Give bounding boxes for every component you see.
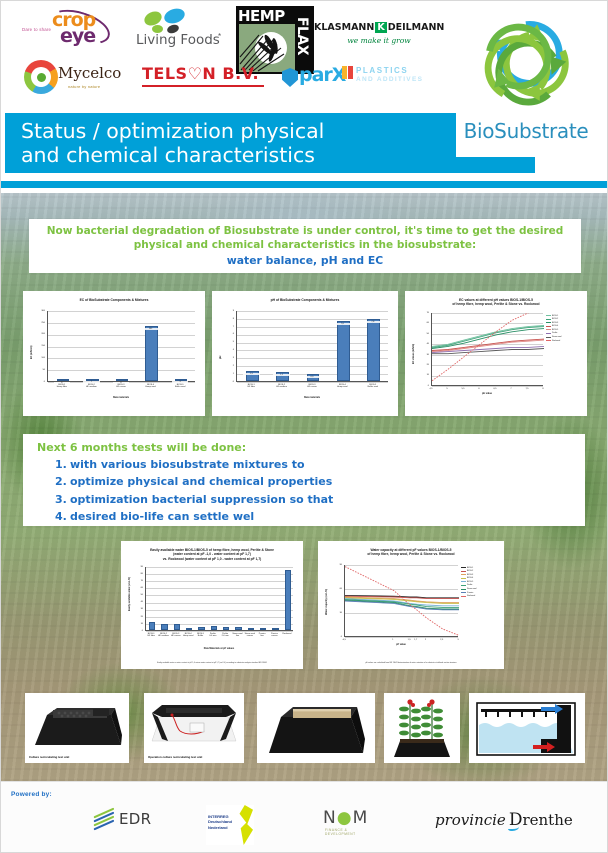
chart-gridline [146, 588, 293, 589]
chart-bar [285, 570, 291, 630]
chart-x-axis-title: Raw Materials at pF values [145, 647, 293, 650]
next-steps-item-number: 1. [55, 456, 70, 473]
photo-test-unit-with-substrate-slab [257, 693, 375, 763]
chart-legend-swatch [461, 592, 466, 593]
chart-x-tick: -0,5 [337, 639, 351, 641]
chart-bar-label: BIOS-2 HF medium [76, 384, 108, 389]
chart-gridline [237, 358, 388, 359]
chart-bar [186, 628, 192, 630]
chart-ec-bar: EC of BioSubstrate Components & Mixtures… [23, 291, 205, 416]
chart-legend-item: Perlite [546, 332, 582, 335]
logo-parx-plastics: parX PLASTICS AND ADDITIVES [281, 63, 431, 97]
next-steps-card: Next 6 months tests will be done: 1.with… [23, 434, 585, 526]
chart-y-tick: 6 [221, 333, 234, 335]
chart-legend-label: BIOS-4 [552, 325, 558, 327]
chart-y-tick: 100 [32, 357, 45, 359]
poster-page: crop eye Dare to share Living Foods * HE [0, 0, 608, 853]
chart-bar [149, 622, 155, 630]
chart-y-tick: 70 [130, 580, 143, 582]
next-steps-item-label: optimize physical and chemical propertie… [70, 475, 332, 488]
chart-gridline [146, 624, 293, 625]
chart-gridline [48, 335, 195, 336]
powered-by-label: Powered by: [11, 791, 52, 798]
chart-bar [145, 326, 157, 381]
chart-bar-value: 232 [142, 328, 158, 330]
chart-bar-value: 7,8 [364, 321, 381, 323]
photo-tomato-plants-in-test-unit [384, 693, 460, 763]
chart-x-tick: 1 [386, 639, 400, 641]
chart-legend-label: Pumice [467, 592, 473, 594]
chart-legend-swatch [546, 315, 551, 316]
chart-title: Easily available water BIOS-1/BIOS-5 of … [125, 548, 299, 561]
chart-ec-vs-ph-lines: EC values at different pH values BIOS-1/… [405, 291, 587, 416]
next-steps-item-number: 2. [55, 473, 70, 490]
chart-y-tick: 30 [328, 612, 342, 614]
chart-water-capacity-lines: Water capacity at different pF values BI… [318, 541, 504, 669]
chart-legend-label: BIOS-1 [552, 315, 558, 317]
chart-legend-swatch [461, 596, 466, 597]
chart-bar [198, 627, 204, 630]
provincie-text: provincie [435, 811, 506, 829]
chart-gridline [237, 382, 388, 383]
chart-gridline [237, 327, 388, 328]
chart-title: EC of BioSubstrate Components & Mixtures [27, 298, 201, 302]
chart-gridline [48, 358, 195, 359]
mycelco-center-dot-icon [37, 73, 46, 82]
chart-y-tick: 0 [415, 385, 429, 387]
chart-gridline [146, 567, 293, 568]
chart-legend-item: BIOS-4 [461, 577, 499, 580]
chart-y-tick: 20 [130, 616, 143, 618]
chart-y-tick: 0 [221, 381, 234, 383]
hempflax-text-flax: FLAX [294, 17, 310, 55]
chart-bar [337, 321, 350, 381]
chart-legend-item: BIOS-2 [546, 318, 582, 321]
chart-legend-label: Stone wool [467, 588, 476, 590]
chart-gridline [237, 350, 388, 351]
chart-y-axis-title: Water capacity (vol.-%) [325, 589, 328, 615]
chart-y-tick: 250 [32, 322, 45, 324]
chart-bar-label: BIOS-1 HF fibre [235, 384, 267, 389]
chart-x-tick: 5 [440, 388, 454, 390]
chart-y-tick: 90 [328, 564, 342, 566]
chart-bar-label: BIOS-3 HF coarse [105, 384, 137, 389]
chart-legend-item: BIOS-2 [461, 570, 499, 573]
chart-y-tick: 10 [130, 623, 143, 625]
mycelco-tagline: nature by nature [68, 84, 100, 89]
page-title: Status / optimization physical and chemi… [21, 119, 324, 167]
chart-plot-area [47, 311, 195, 382]
chart-y-axis-title: pH [219, 355, 222, 358]
chart-y-tick: 0 [328, 636, 342, 638]
interreg-nederland: Nederland [208, 825, 232, 830]
chart-legend-label: BIOS-5 [467, 581, 473, 583]
footer-logo-interreg: INTERREG Deutschland Nederland [206, 804, 256, 846]
chart-legend: BIOS-1BIOS-2BIOS-3BIOS-4BIOS-5PerliteSto… [461, 566, 499, 598]
chart-legend-item: BIOS-5 [461, 580, 499, 583]
chart-x-axis-title: Raw materials [47, 396, 195, 399]
chart-y-tick: 0 [32, 381, 45, 383]
chart-title: EC values at different pH values BIOS-1/… [409, 298, 583, 307]
logo-klasmann-deilmann: KLASMANNKDEILMANN we make it grow [313, 17, 445, 59]
parx-plastics-text: PLASTICS [356, 66, 408, 75]
chart-bar-label: BIOS-4 Hemp wool [326, 384, 358, 389]
chart-gridline [146, 574, 293, 575]
chart-legend-item: BIOS-1 [461, 566, 499, 569]
chart-y-tick: 30 [415, 354, 429, 356]
chart-bar-label: BIOS-3 HF coarse [296, 384, 328, 389]
chart-legend-item: BIOS-3 [546, 321, 582, 324]
intro-statement-card: Now bacterial degradation of Biosubstrat… [29, 219, 581, 273]
crop-eye-text-bottom: eye [60, 25, 95, 47]
chart-y-tick: 300 [32, 310, 45, 312]
chart-x-tick: 7,5 [520, 388, 534, 390]
chart-legend-swatch [546, 340, 551, 341]
logo-living-foods: Living Foods * [131, 7, 243, 55]
chart-legend-label: Stone wool [552, 336, 561, 338]
chart-legend-swatch [546, 337, 551, 338]
chart-legend-swatch [461, 585, 466, 586]
photo-caption: Culture recirculating test unit [29, 755, 125, 759]
next-steps-item-label: optimization bacterial suppression so th… [70, 493, 333, 506]
parx-text: parX [299, 64, 345, 86]
chart-gridline [237, 319, 388, 320]
chart-legend-swatch [546, 326, 551, 327]
chart-legend-swatch [461, 571, 466, 572]
chart-bar [248, 628, 254, 630]
chart-legend-label: Perlite [467, 584, 472, 586]
chart-y-tick: 50 [415, 333, 429, 335]
photo-water-reservoir-cross-section-diagram [469, 693, 585, 763]
parx-additives-text: AND ADDITIVES [356, 76, 423, 83]
chart-bar-label: BIOS-5 Buffer wool [164, 384, 196, 389]
chart-y-axis-title: Easily available water (vol.-%) [128, 577, 131, 611]
chart-bar-label: BIOS-1 Hemp fibre [46, 384, 78, 389]
nom-text: NOM [323, 808, 363, 828]
interreg-deutschland: Deutschland [208, 819, 232, 824]
chart-ph-bar: pH of BioSubstrate Components & Mixtures… [212, 291, 398, 416]
chart-bar [260, 628, 266, 630]
chart-y-tick: 60 [328, 588, 342, 590]
chart-gridline [48, 323, 195, 324]
chart-y-tick: 30 [130, 608, 143, 610]
next-steps-item: 4.desired bio-life can settle wel [55, 508, 575, 525]
footer-logo-nom: N●M NOM FINANCE & DEVELOPMENT [323, 808, 368, 828]
interreg-flag-icon [238, 805, 253, 845]
drenthe-rest: renthe [522, 811, 572, 829]
next-steps-item-label: desired bio-life can settle wel [70, 510, 254, 523]
hempflax-text-hemp: HEMP [238, 7, 285, 25]
crop-eye-tagline: Dare to share [22, 27, 51, 32]
chart-x-axis-title: Raw materials [236, 396, 388, 399]
chart-bar-value: 0,9 [304, 376, 321, 378]
chart-x-tick: 8 [536, 388, 550, 390]
logo-crop-eye: crop eye Dare to share [21, 7, 131, 53]
chart-x-tick: 6 [472, 388, 486, 390]
chart-y-tick: 5 [221, 341, 234, 343]
chart-legend-label: BIOS-2 [552, 318, 558, 320]
living-foods-blob-icon [162, 6, 186, 26]
chart-gridline [432, 386, 543, 387]
biosubstrate-brand-panel: BioSubstrate [456, 5, 596, 157]
intro-green-text: Now bacterial degradation of Biosubstrat… [47, 225, 564, 252]
footer-logo-edr: EDR [93, 810, 151, 828]
chart-legend-swatch [461, 581, 466, 582]
chart-y-tick: 9 [221, 310, 234, 312]
chart-gridline [237, 335, 388, 336]
chart-legend-swatch [546, 333, 551, 334]
chart-bar [235, 627, 241, 630]
chart-x-axis-title: pH value [431, 392, 543, 395]
chart-x-tick: 3 [451, 639, 465, 641]
chart-gridline [48, 311, 195, 312]
next-steps-list: 1.with various biosubstrate mixtures to2… [55, 456, 575, 526]
footer-logo-provincie-drenthe: provincie D renthe [435, 810, 573, 830]
next-steps-heading: Next 6 months tests will be done: [37, 441, 575, 454]
next-steps-item: 2.optimize physical and chemical propert… [55, 473, 575, 490]
chart-legend-label: Perlite [552, 332, 557, 334]
chart-legend-item: Pumice [461, 591, 499, 594]
chart-legend-label: Rockwool [552, 340, 560, 342]
chart-y-tick: 7 [221, 326, 234, 328]
klasmann-k-badge: K [375, 22, 386, 33]
chart-legend-swatch [461, 589, 466, 590]
deilmann-text: DEILMANN [388, 22, 445, 33]
chart-y-axis-title: EC (mS/cm) [30, 345, 33, 358]
logo-mycelco: Mycelco nature by nature [21, 57, 137, 101]
chart-legend-label: Rockwool [467, 595, 475, 597]
chart-y-tick: 20 [415, 364, 429, 366]
telson-text-1: TELS [142, 64, 188, 83]
chart-series-layer [432, 313, 544, 386]
biosubstrate-wordmark: BioSubstrate [464, 119, 589, 143]
living-foods-trademark: * [218, 32, 221, 41]
next-steps-item: 1.with various biosubstrate mixtures to [55, 456, 575, 473]
chart-gridline [48, 370, 195, 371]
chart-legend-label: BIOS-4 [467, 577, 473, 579]
chart-gridline [146, 581, 293, 582]
chart-y-tick: 150 [32, 345, 45, 347]
chart-y-tick: 90 [130, 566, 143, 568]
chart-bar [161, 624, 167, 630]
chart-series-layer [345, 565, 459, 637]
chart-available-water-bar: Easily available water BIOS-1/BIOS-5 of … [121, 541, 303, 669]
chart-gridline [345, 637, 458, 638]
chart-legend-label: BIOS-2 [467, 570, 473, 572]
chart-bar [367, 319, 380, 381]
chart-bar [211, 626, 217, 630]
chart-legend-item: Rockwool [546, 339, 582, 342]
photo-caption: Operation culture recirculating test uni… [148, 755, 240, 759]
next-steps-item: 3.optimization bacterial suppression so … [55, 491, 575, 508]
chart-legend-swatch [461, 574, 466, 575]
chart-x-tick: 5,5 [456, 388, 470, 390]
chart-legend-swatch [546, 319, 551, 320]
chart-y-axis-title: EC values (mS/m) [412, 343, 415, 363]
next-steps-item-label: with various biosubstrate mixtures to [70, 458, 305, 471]
chart-legend-label: BIOS-1 [467, 567, 473, 569]
banner-accent-stripe [1, 181, 608, 188]
chart-y-tick: 50 [32, 369, 45, 371]
chart-legend-swatch [461, 567, 466, 568]
chart-legend-item: Stone wool [461, 588, 499, 591]
intro-blue-text: water balance, pH and EC [227, 254, 383, 267]
chart-plot-area [344, 565, 458, 637]
chart-y-tick: 0 [130, 630, 143, 632]
chart-y-tick: 4 [221, 349, 234, 351]
chart-legend-label: BIOS-5 [552, 329, 558, 331]
chart-bar-value: 1,1 [273, 374, 290, 376]
chart-note: Easily available water = water content a… [129, 662, 295, 664]
chart-title: pH of BioSubstrate Components & Mixtures [216, 298, 394, 302]
footer-bar: Powered by: EDR INTERREG Deutschland Ned… [1, 781, 608, 853]
chart-gridline [146, 603, 293, 604]
chart-y-tick: 3 [221, 357, 234, 359]
chart-legend-item: Stone wool [546, 336, 582, 339]
edr-text: EDR [119, 810, 151, 828]
chart-y-tick: 10 [415, 374, 429, 376]
chart-bar-label: BIOS-2 HF medium [265, 384, 297, 389]
photo-culture-recirculating-test-unit: Culture recirculating test unit [25, 693, 129, 763]
chart-plot-area [431, 313, 543, 386]
klasmann-tagline: we make it grow [314, 36, 444, 45]
chart-legend-label: BIOS-3 [552, 322, 558, 324]
biosubstrate-recycle-logo-icon [467, 7, 585, 119]
photo-operation-culture-recirculating-test-unit: Operation culture recirculating test uni… [144, 693, 244, 763]
chart-y-tick: 50 [130, 594, 143, 596]
chart-bar-value: 7,6 [334, 323, 351, 325]
chart-gridline [237, 311, 388, 312]
mycelco-text: Mycelco [58, 64, 121, 82]
chart-legend-item: BIOS-1 [546, 314, 582, 317]
chart-bar-label: BIOS-5 Buffer wool [357, 384, 389, 389]
chart-legend-item: BIOS-3 [461, 573, 499, 576]
chart-y-tick: 40 [130, 601, 143, 603]
nom-tagline: FINANCE & DEVELOPMENT [325, 828, 368, 836]
chart-legend-swatch [546, 329, 551, 330]
telson-underline [142, 85, 264, 87]
living-foods-text: Living Foods [136, 32, 220, 48]
chart-x-axis-title: pF value [344, 643, 458, 646]
chart-legend-label: BIOS-3 [467, 574, 473, 576]
chart-gridline [146, 631, 293, 632]
chart-y-tick: 8 [221, 318, 234, 320]
chart-x-tick: 2,5 [435, 639, 449, 641]
chart-bar-value: 1,3 [243, 373, 260, 375]
chart-x-tick: 6,5 [488, 388, 502, 390]
chart-plot-area [145, 567, 293, 631]
chart-bar-label: BIOS-4 Hemp wool [135, 384, 167, 389]
chart-y-tick: 1 [221, 373, 234, 375]
chart-x-tick: 2 [418, 639, 432, 641]
klasmann-text: KLASMANN [314, 22, 374, 33]
parx-shield-icon [282, 68, 298, 87]
chart-x-tick: 7 [504, 388, 518, 390]
chart-gridline [237, 366, 388, 367]
chart-y-tick: 60 [130, 587, 143, 589]
chart-y-tick: 2 [221, 365, 234, 367]
next-steps-item-number: 4. [55, 508, 70, 525]
chart-legend-swatch [461, 578, 466, 579]
chart-legend: BIOS-1BIOS-2BIOS-3BIOS-4BIOS-5PerliteSto… [546, 314, 582, 343]
chart-y-tick: 200 [32, 333, 45, 335]
chart-bar [174, 624, 180, 630]
chart-y-tick: 80 [130, 573, 143, 575]
edr-bars-icon [93, 810, 115, 828]
chart-legend-item: Perlite [461, 584, 499, 587]
chart-bar [223, 627, 229, 630]
telson-text-2: N B.V. [202, 64, 259, 83]
chart-note: pF-values are calculated from EN 13041 d… [326, 662, 496, 664]
chart-gridline [146, 617, 293, 618]
chart-legend-swatch [546, 322, 551, 323]
chart-y-tick: 40 [415, 343, 429, 345]
chart-gridline [48, 347, 195, 348]
chart-legend-item: BIOS-5 [546, 328, 582, 331]
next-steps-item-number: 3. [55, 491, 70, 508]
chart-bar [272, 628, 278, 630]
chart-gridline [237, 343, 388, 344]
chart-x-tick: 4,5 [424, 388, 438, 390]
chart-gridline [146, 595, 293, 596]
chart-y-tick: 60 [415, 322, 429, 324]
chart-title: Water capacity at different pF values BI… [322, 548, 500, 557]
logo-telson-bv: TELS♡N B.V. [141, 61, 269, 97]
chart-gridline [146, 610, 293, 611]
chart-legend-item: Rockwool [461, 595, 499, 598]
chart-y-tick: 70 [415, 312, 429, 314]
chart-legend-item: BIOS-4 [546, 325, 582, 328]
chart-bar-label: Rockwool [280, 633, 294, 636]
